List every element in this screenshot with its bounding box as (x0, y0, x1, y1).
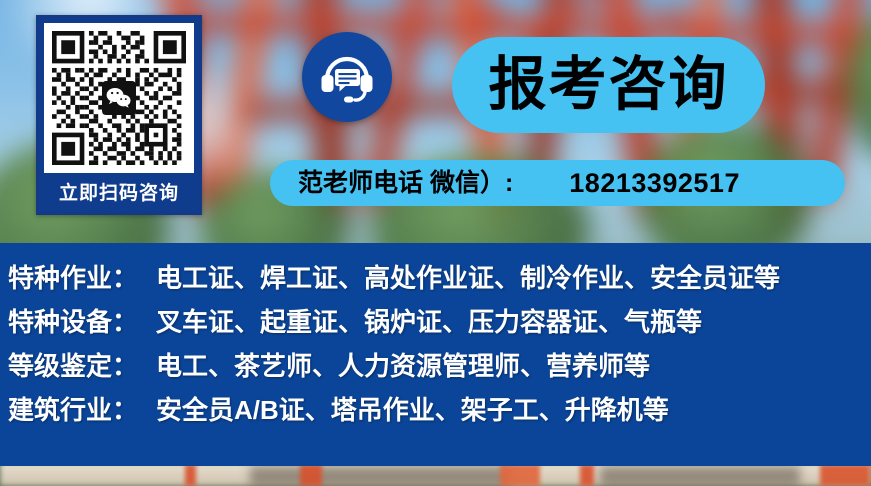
promo-poster: 立即扫码咨询 报考咨询 范老师电话 微信）: 18213392517 (0, 0, 871, 486)
category-label: 建筑行业： (8, 397, 156, 423)
qr-code-card[interactable]: 立即扫码咨询 (36, 15, 202, 215)
category-label: 等级鉴定： (8, 353, 156, 379)
category-label: 特种设备： (8, 309, 156, 335)
category-value: 电工、茶艺师、人力资源管理师、营养师等 (156, 353, 650, 379)
category-value: 安全员A/B证、塔吊作业、架子工、升降机等 (156, 397, 669, 423)
category-row: 建筑行业： 安全员A/B证、塔吊作业、架子工、升降机等 (8, 397, 871, 441)
wechat-glyph (106, 87, 132, 109)
contact-pill[interactable]: 范老师电话 微信）: 18213392517 (270, 160, 845, 206)
qr-code-image[interactable] (44, 23, 194, 173)
certificate-categories-panel: 特种作业： 电工证、焊工证、高处作业证、制冷作业、安全员证等 特种设备： 叉车证… (0, 243, 871, 466)
category-value: 电工证、焊工证、高处作业证、制冷作业、安全员证等 (156, 265, 780, 291)
headline-pill[interactable]: 报考咨询 (452, 37, 765, 133)
contact-label: 范老师电话 微信）: (298, 171, 513, 196)
category-row: 等级鉴定： 电工、茶艺师、人力资源管理师、营养师等 (8, 353, 871, 397)
wechat-icon (102, 81, 136, 115)
category-value: 叉车证、起重证、锅炉证、压力容器证、气瓶等 (156, 309, 702, 335)
category-row: 特种设备： 叉车证、起重证、锅炉证、压力容器证、气瓶等 (8, 309, 871, 353)
headset-badge[interactable] (302, 32, 392, 122)
qr-caption: 立即扫码咨询 (59, 184, 179, 203)
headline-text: 报考咨询 (488, 56, 728, 114)
category-label: 特种作业： (8, 265, 156, 291)
headset-chat-icon (318, 49, 376, 105)
contact-phone-number[interactable]: 18213392517 (569, 170, 740, 197)
category-row: 特种作业： 电工证、焊工证、高处作业证、制冷作业、安全员证等 (8, 265, 871, 309)
